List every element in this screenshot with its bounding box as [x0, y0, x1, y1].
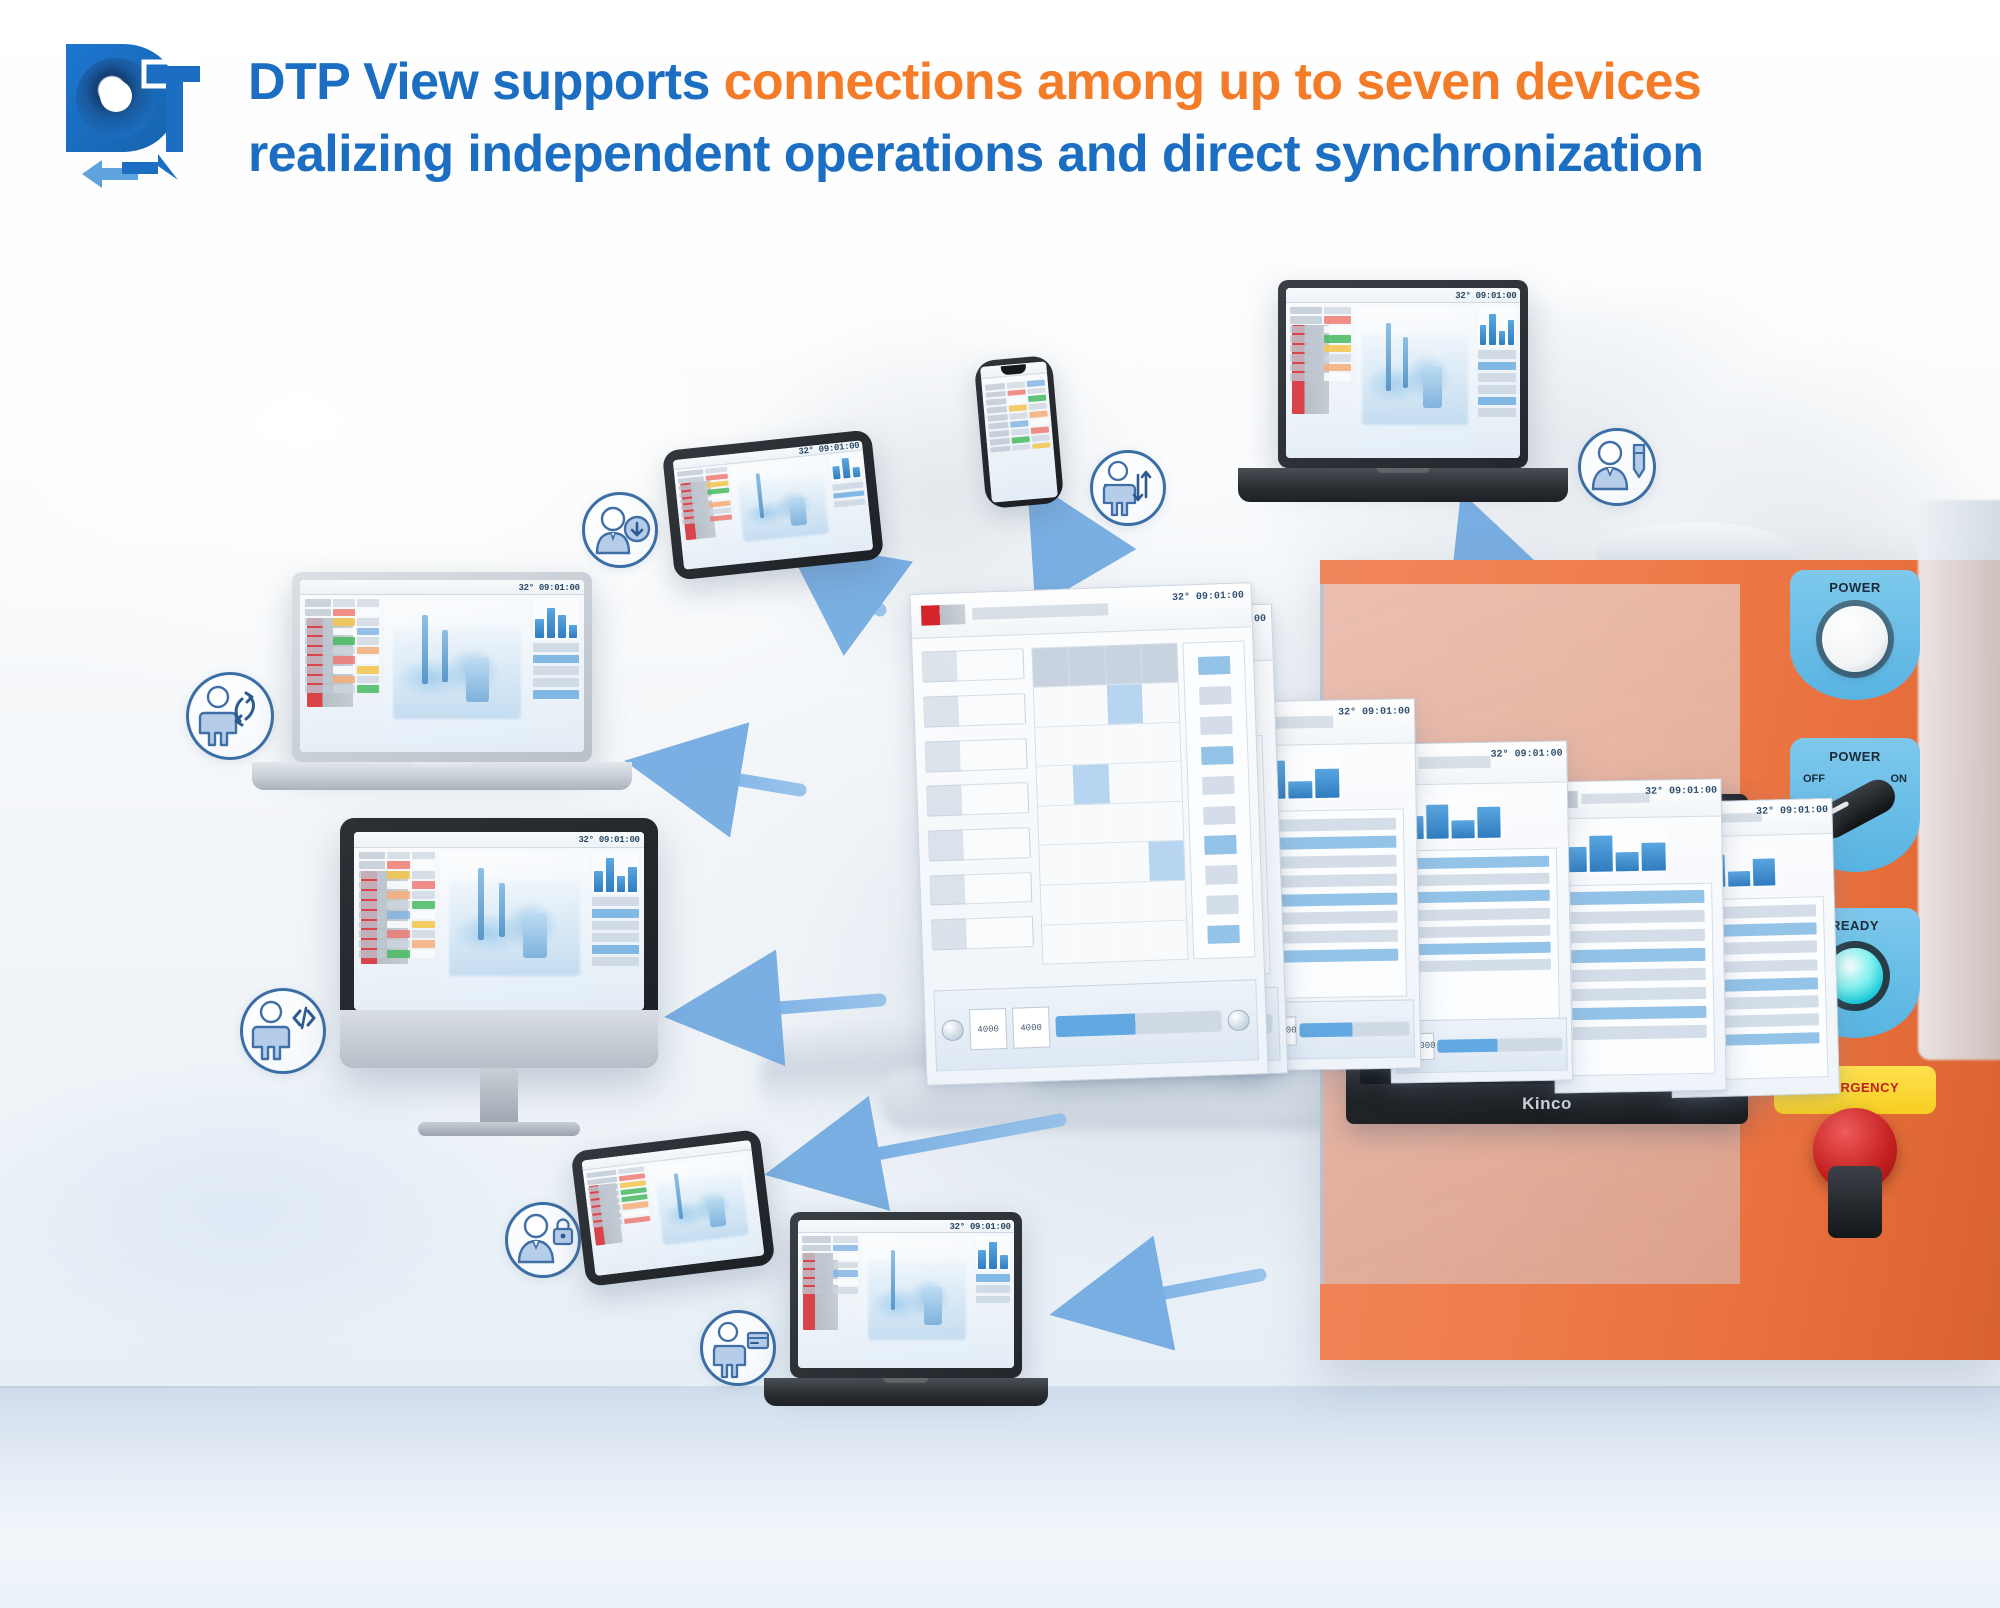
power-on-label: ON	[1891, 773, 1908, 785]
footer-value-a[interactable]: 4000	[969, 1008, 1007, 1050]
card-title	[1419, 756, 1491, 768]
monitor-stand-base	[418, 1122, 580, 1136]
device-monitor[interactable]: 32° 09:01:00	[340, 818, 658, 1068]
headline-orange-part: connections among up to seven devices	[724, 53, 1702, 111]
monitor-frame: 32° 09:01:00	[340, 818, 658, 1068]
grid-row[interactable]	[1037, 761, 1182, 806]
user-edit-icon	[1582, 431, 1652, 501]
poster-root: DTP View supports connections among up t…	[0, 0, 2000, 1608]
grid-row[interactable]	[1042, 919, 1187, 964]
laptop-screen: 32° 09:01:00	[1286, 288, 1520, 458]
hmi-ui	[582, 1140, 765, 1276]
grid-row[interactable]	[1035, 722, 1180, 767]
form-field[interactable]	[921, 649, 1024, 683]
tablet-frame: 32° 09:01:00	[662, 429, 884, 580]
ui-left-table	[586, 1166, 655, 1271]
headline-blue-part: DTP View supports	[248, 53, 724, 111]
role-badge-transfer[interactable]	[1090, 450, 1166, 526]
ui-clock: 32° 09:01:00	[1455, 290, 1516, 302]
card-brand-logo	[921, 604, 966, 625]
hmi-ui: 32° 09:01:00	[673, 440, 873, 569]
form-field[interactable]	[924, 738, 1027, 772]
card-title	[972, 603, 1108, 620]
ui-side-panel	[976, 1236, 1011, 1362]
grid-row[interactable]	[1039, 840, 1184, 885]
ui-left-table	[359, 852, 434, 1003]
footer-slider[interactable]	[1437, 1037, 1562, 1053]
hmi-card-6[interactable]: 32° 09:01:00	[1549, 779, 1726, 1094]
form-field[interactable]	[927, 827, 1030, 861]
ui-left-table	[677, 467, 736, 565]
monitor-screen: 32° 09:01:00	[354, 832, 644, 1010]
grid-row[interactable]	[1034, 682, 1179, 727]
grid-row[interactable]	[1038, 801, 1183, 846]
power-off-label: OFF	[1803, 773, 1825, 785]
laptop-screen: 32° 09:01:00	[300, 580, 584, 752]
hmi-ui: 32° 09:01:00	[300, 580, 584, 752]
grid-row[interactable]	[1041, 880, 1186, 925]
key-lock[interactable]	[1828, 1166, 1882, 1238]
headline-line-2: realizing independent operations and dir…	[248, 118, 1968, 190]
power-lamp-button[interactable]	[1822, 606, 1888, 672]
card-title	[1581, 793, 1649, 804]
role-badge-sync[interactable]	[186, 672, 274, 760]
card-body: 4000 4000	[912, 627, 1267, 1085]
role-badge-edit[interactable]	[1578, 428, 1656, 506]
user-download-icon	[585, 495, 655, 565]
ui-clock: 32° 09:01:00	[519, 582, 580, 594]
role-badge-identity[interactable]	[700, 1310, 776, 1386]
ui-plant-view	[647, 1155, 757, 1264]
footer-knob-2[interactable]	[1227, 1009, 1249, 1031]
ui-clock: 32° 09:01:00	[578, 834, 639, 846]
headline-line-1: DTP View supports connections among up t…	[248, 46, 1968, 118]
monitor-chin	[340, 1010, 658, 1068]
card-right-panel	[1183, 641, 1255, 960]
tablet-frame	[570, 1129, 775, 1287]
monitor-stand-neck	[480, 1068, 518, 1128]
laptop-base	[764, 1378, 1048, 1406]
card-data-grid[interactable]	[1031, 643, 1188, 965]
form-field[interactable]	[923, 693, 1026, 727]
user-lock-icon	[509, 1205, 577, 1273]
ui-left-table	[305, 599, 379, 745]
ui-plant-view	[862, 1238, 973, 1362]
ui-left-table	[984, 379, 1054, 497]
card-clock: 32° 09:01:00	[1756, 805, 1828, 818]
desk-surface	[0, 1388, 2000, 1608]
device-laptop-top-right[interactable]: 32° 09:01:00	[1278, 280, 1528, 468]
ui-clock: 32° 09:01:00	[950, 1222, 1011, 1232]
tablet-screen: 32° 09:01:00	[673, 440, 873, 569]
user-transfer-icon	[1094, 453, 1162, 521]
footer-knob[interactable]	[942, 1019, 964, 1041]
laptop-lid: 32° 09:01:00	[1278, 280, 1528, 468]
ui-side-panel	[533, 599, 578, 745]
hmi-card-ui: 32° 09:01:00	[911, 583, 1268, 1085]
card-footer-controls: 4000 4000	[933, 980, 1259, 1071]
kinco-brand-label: Kinco	[1522, 1094, 1572, 1114]
footer-value-b[interactable]: 4000	[1012, 1007, 1050, 1049]
form-field[interactable]	[930, 916, 1033, 950]
user-card-icon	[704, 1313, 772, 1381]
device-laptop-bottom[interactable]: 32° 09:01:00	[790, 1212, 1022, 1378]
hmi-ui: 32° 09:01:00	[354, 832, 644, 1010]
card-clock: 32° 09:01:00	[1491, 748, 1563, 760]
ui-left-table	[802, 1236, 858, 1362]
laptop-screen: 32° 09:01:00	[798, 1220, 1014, 1368]
role-badge-secure[interactable]	[505, 1202, 581, 1278]
form-field[interactable]	[929, 872, 1032, 906]
hmi-card-1[interactable]: 32° 09:01:00	[910, 582, 1269, 1086]
grid-header-row	[1033, 644, 1178, 687]
headline: DTP View supports connections among up t…	[248, 46, 1968, 190]
hmi-ui	[980, 361, 1058, 502]
power-switch-label: POWER	[1790, 749, 1920, 764]
power-indicator-group: POWER	[1790, 570, 1920, 700]
user-sync-icon	[190, 675, 270, 755]
ui-plant-view	[384, 601, 530, 746]
device-laptop-left[interactable]: 32° 09:01:00	[292, 572, 592, 762]
power-switch-positions: OFF ON	[1790, 773, 1920, 785]
hmi-ui: 32° 09:01:00	[1286, 288, 1520, 458]
ui-plant-view	[1355, 308, 1476, 451]
card-body	[1551, 817, 1726, 1093]
role-badge-developer[interactable]	[240, 988, 326, 1074]
power-label: POWER	[1790, 580, 1920, 595]
ui-plant-view	[730, 457, 837, 559]
header: DTP View supports connections among up t…	[0, 0, 2000, 230]
form-field[interactable]	[926, 782, 1029, 816]
user-code-icon	[244, 991, 322, 1069]
card-form-fields	[921, 649, 1035, 996]
phone-screen	[980, 361, 1058, 502]
tablet-screen	[582, 1140, 765, 1276]
ui-side-panel	[592, 852, 638, 1003]
card-clock: 32° 09:01:00	[1645, 786, 1717, 798]
laptop-base	[1238, 468, 1568, 502]
card-clock: 32° 09:01:00	[1338, 707, 1410, 719]
footer-slider[interactable]	[1300, 1021, 1410, 1038]
laptop-lid: 32° 09:01:00	[790, 1212, 1022, 1378]
laptop-lid: 32° 09:01:00	[292, 572, 592, 762]
footer-slider[interactable]	[1055, 1011, 1222, 1037]
hmi-card-ui: 32° 09:01:00	[1550, 780, 1725, 1093]
role-badge-download[interactable]	[582, 492, 658, 568]
dtp-logo	[60, 38, 200, 188]
ui-side-panel	[1478, 307, 1515, 452]
laptop-base	[252, 762, 632, 790]
device-phone[interactable]	[974, 355, 1065, 509]
ui-plant-view	[440, 853, 589, 1003]
phone-frame	[974, 355, 1065, 509]
ui-left-table	[1290, 307, 1351, 452]
hmi-ui: 32° 09:01:00	[798, 1220, 1014, 1368]
device-tablet-top[interactable]: 32° 09:01:00	[662, 429, 884, 580]
machine-tube	[1918, 500, 2000, 1060]
device-tablet-bottom[interactable]	[570, 1129, 775, 1287]
